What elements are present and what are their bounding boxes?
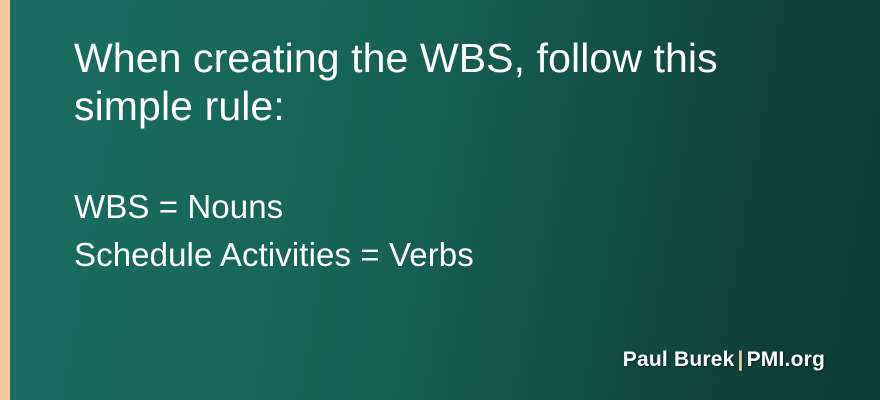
slide-canvas: When creating the WBS, follow this simpl… (0, 0, 880, 400)
attribution: Paul Burek|PMI.org (623, 348, 825, 372)
body-text-block: WBS = Nouns Schedule Activities = Verbs (74, 183, 820, 279)
attribution-author: Paul Burek (623, 348, 735, 371)
headline-text: When creating the WBS, follow this simpl… (74, 34, 754, 130)
slide-content: When creating the WBS, follow this simpl… (74, 34, 820, 279)
attribution-separator: | (735, 348, 747, 371)
attribution-source: PMI.org (747, 348, 825, 371)
body-line-schedule-activities: Schedule Activities = Verbs (74, 231, 820, 279)
left-accent-stripe (0, 0, 10, 400)
body-line-wbs: WBS = Nouns (74, 183, 820, 231)
